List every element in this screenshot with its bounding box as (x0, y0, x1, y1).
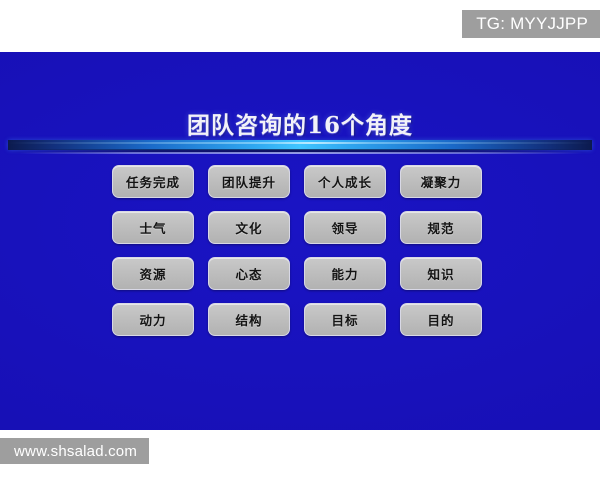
grid-button-12[interactable]: 知识 (400, 257, 482, 290)
grid-button-15[interactable]: 目标 (304, 303, 386, 336)
grid-button-14[interactable]: 结构 (208, 303, 290, 336)
grid-button-1[interactable]: 任务完成 (112, 165, 194, 198)
page-title: 团队咨询的16个角度 (0, 106, 600, 140)
grid-button-9[interactable]: 资源 (112, 257, 194, 290)
grid-button-7[interactable]: 领导 (304, 211, 386, 244)
divider-underline (20, 152, 582, 154)
grid-button-5[interactable]: 士气 (112, 211, 194, 244)
grid-button-2[interactable]: 团队提升 (208, 165, 290, 198)
grid-button-13[interactable]: 动力 (112, 303, 194, 336)
grid-button-6[interactable]: 文化 (208, 211, 290, 244)
button-grid: 任务完成 团队提升 个人成长 凝聚力 士气 文化 领导 规范 资源 心态 能力 … (112, 165, 490, 336)
grid-button-3[interactable]: 个人成长 (304, 165, 386, 198)
grid-button-4[interactable]: 凝聚力 (400, 165, 482, 198)
slide-canvas: 团队咨询的16个角度 任务完成 团队提升 个人成长 凝聚力 士气 文化 领导 规… (0, 52, 600, 430)
grid-button-10[interactable]: 心态 (208, 257, 290, 290)
grid-button-8[interactable]: 规范 (400, 211, 482, 244)
grid-button-11[interactable]: 能力 (304, 257, 386, 290)
telegram-watermark: TG: MYYJJPP (462, 10, 600, 38)
grid-button-16[interactable]: 目的 (400, 303, 482, 336)
title-divider (0, 140, 600, 158)
website-watermark: www.shsalad.com (0, 438, 149, 464)
screenshot-root: 团队咨询的16个角度 任务完成 团队提升 个人成长 凝聚力 士气 文化 领导 规… (0, 0, 600, 480)
